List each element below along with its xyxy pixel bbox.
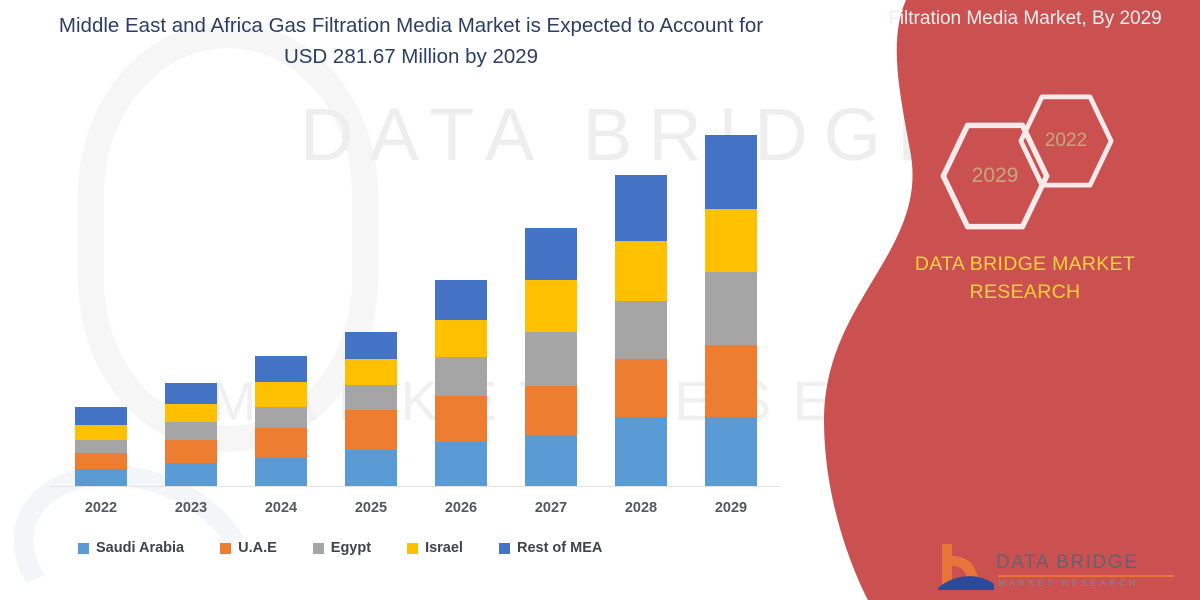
- bar-segment: [615, 359, 667, 417]
- bar-segment: [255, 428, 307, 458]
- x-axis-label: 2025: [345, 500, 397, 516]
- legend-item[interactable]: Rest of MEA: [499, 540, 602, 556]
- bar-segment: [255, 382, 307, 407]
- bar-column: [75, 100, 127, 486]
- legend-label: Israel: [425, 540, 463, 556]
- brand-name-line1: DATA BRIDGE MARKET: [850, 250, 1200, 278]
- bar-segment: [165, 440, 217, 464]
- bar-column: [615, 100, 667, 486]
- bar-segment: [705, 209, 757, 272]
- bar-segment: [165, 383, 217, 404]
- x-axis-label: 2029: [705, 500, 757, 516]
- x-axis-label: 2027: [525, 500, 577, 516]
- bar-segment: [615, 301, 667, 360]
- legend-swatch-icon: [220, 543, 231, 554]
- bar-segment: [615, 241, 667, 301]
- chart-legend: Saudi ArabiaU.A.EEgyptIsraelRest of MEA: [78, 540, 602, 556]
- x-axis-label: 2024: [255, 500, 307, 516]
- bar-segment: [525, 386, 577, 434]
- bar-segment: [435, 442, 487, 486]
- legend-item[interactable]: Egypt: [313, 540, 371, 556]
- bar-segment: [435, 320, 487, 357]
- bar-column: [165, 100, 217, 486]
- bar-column: [705, 100, 757, 486]
- bar-segment: [255, 407, 307, 429]
- bar-segment: [75, 440, 127, 453]
- legend-label: Saudi Arabia: [96, 540, 184, 556]
- infographic-canvas: DATA BRIDGE MARKET RESEARCH Middle East …: [0, 0, 1200, 600]
- bar-segment: [75, 453, 127, 468]
- bar-segment: [435, 396, 487, 441]
- stacked-bar-series: [56, 100, 776, 486]
- brand-name-line2: RESEARCH: [850, 278, 1200, 306]
- x-axis-tick-labels: 20222023202420252026202720282029: [56, 500, 776, 516]
- bar-segment: [435, 357, 487, 396]
- legend-swatch-icon: [78, 543, 89, 554]
- x-axis-label: 2028: [615, 500, 667, 516]
- bar-segment: [705, 135, 757, 209]
- hexagon-2029-label: 2029: [972, 164, 1019, 188]
- bar-segment: [255, 458, 307, 486]
- bar-segment: [525, 332, 577, 387]
- legend-swatch-icon: [499, 543, 510, 554]
- footer-logo-tagline: MARKET RESEARCH: [998, 578, 1139, 588]
- x-axis-label: 2022: [75, 500, 127, 516]
- bar-segment: [345, 332, 397, 360]
- legend-label: Rest of MEA: [517, 540, 602, 556]
- bar-column: [255, 100, 307, 486]
- bar-segment: [525, 435, 577, 486]
- footer-logo: DATA BRIDGE MARKET RESEARCH: [936, 538, 1186, 598]
- x-axis-label: 2026: [435, 500, 487, 516]
- bar-segment: [705, 417, 757, 486]
- bar-segment: [345, 359, 397, 385]
- bar-segment: [345, 410, 397, 450]
- legend-label: Egypt: [331, 540, 371, 556]
- footer-logo-name: DATA BRIDGE: [996, 552, 1139, 574]
- footer-logo-rule: [998, 575, 1174, 577]
- bar-segment: [75, 407, 127, 426]
- bar-segment: [165, 404, 217, 423]
- hexagon-2022-label: 2022: [1045, 130, 1087, 152]
- x-axis-line: [50, 486, 780, 487]
- hexagon-group: 2022 2029: [940, 92, 1170, 232]
- hexagon-2029: 2029: [940, 120, 1050, 232]
- bar-column: [345, 100, 397, 486]
- legend-item[interactable]: Saudi Arabia: [78, 540, 184, 556]
- bar-segment: [345, 450, 397, 486]
- legend-item[interactable]: Israel: [407, 540, 463, 556]
- bar-segment: [525, 228, 577, 280]
- legend-swatch-icon: [313, 543, 324, 554]
- legend-item[interactable]: U.A.E: [220, 540, 277, 556]
- bar-segment: [75, 425, 127, 439]
- panel-heading: Filtration Media Market, By 2029: [810, 8, 1200, 30]
- bridge-logo-icon: [936, 538, 994, 590]
- bar-segment: [615, 175, 667, 241]
- bar-segment: [705, 272, 757, 345]
- legend-swatch-icon: [407, 543, 418, 554]
- legend-label: U.A.E: [238, 540, 277, 556]
- bar-segment: [345, 385, 397, 410]
- bar-segment: [255, 356, 307, 382]
- x-axis-label: 2023: [165, 500, 217, 516]
- chart-area: Middle East and Africa Gas Filtration Me…: [0, 0, 810, 600]
- bar-segment: [705, 345, 757, 417]
- bar-segment: [165, 422, 217, 439]
- bar-segment: [615, 417, 667, 486]
- bar-segment: [435, 280, 487, 320]
- brand-panel: Filtration Media Market, By 2029 2022 20…: [810, 0, 1200, 600]
- bar-column: [435, 100, 487, 486]
- bar-segment: [525, 280, 577, 331]
- bar-segment: [75, 469, 127, 486]
- brand-name: DATA BRIDGE MARKET RESEARCH: [810, 250, 1200, 306]
- page-title: Middle East and Africa Gas Filtration Me…: [46, 10, 776, 72]
- bar-column: [525, 100, 577, 486]
- bar-segment: [165, 463, 217, 486]
